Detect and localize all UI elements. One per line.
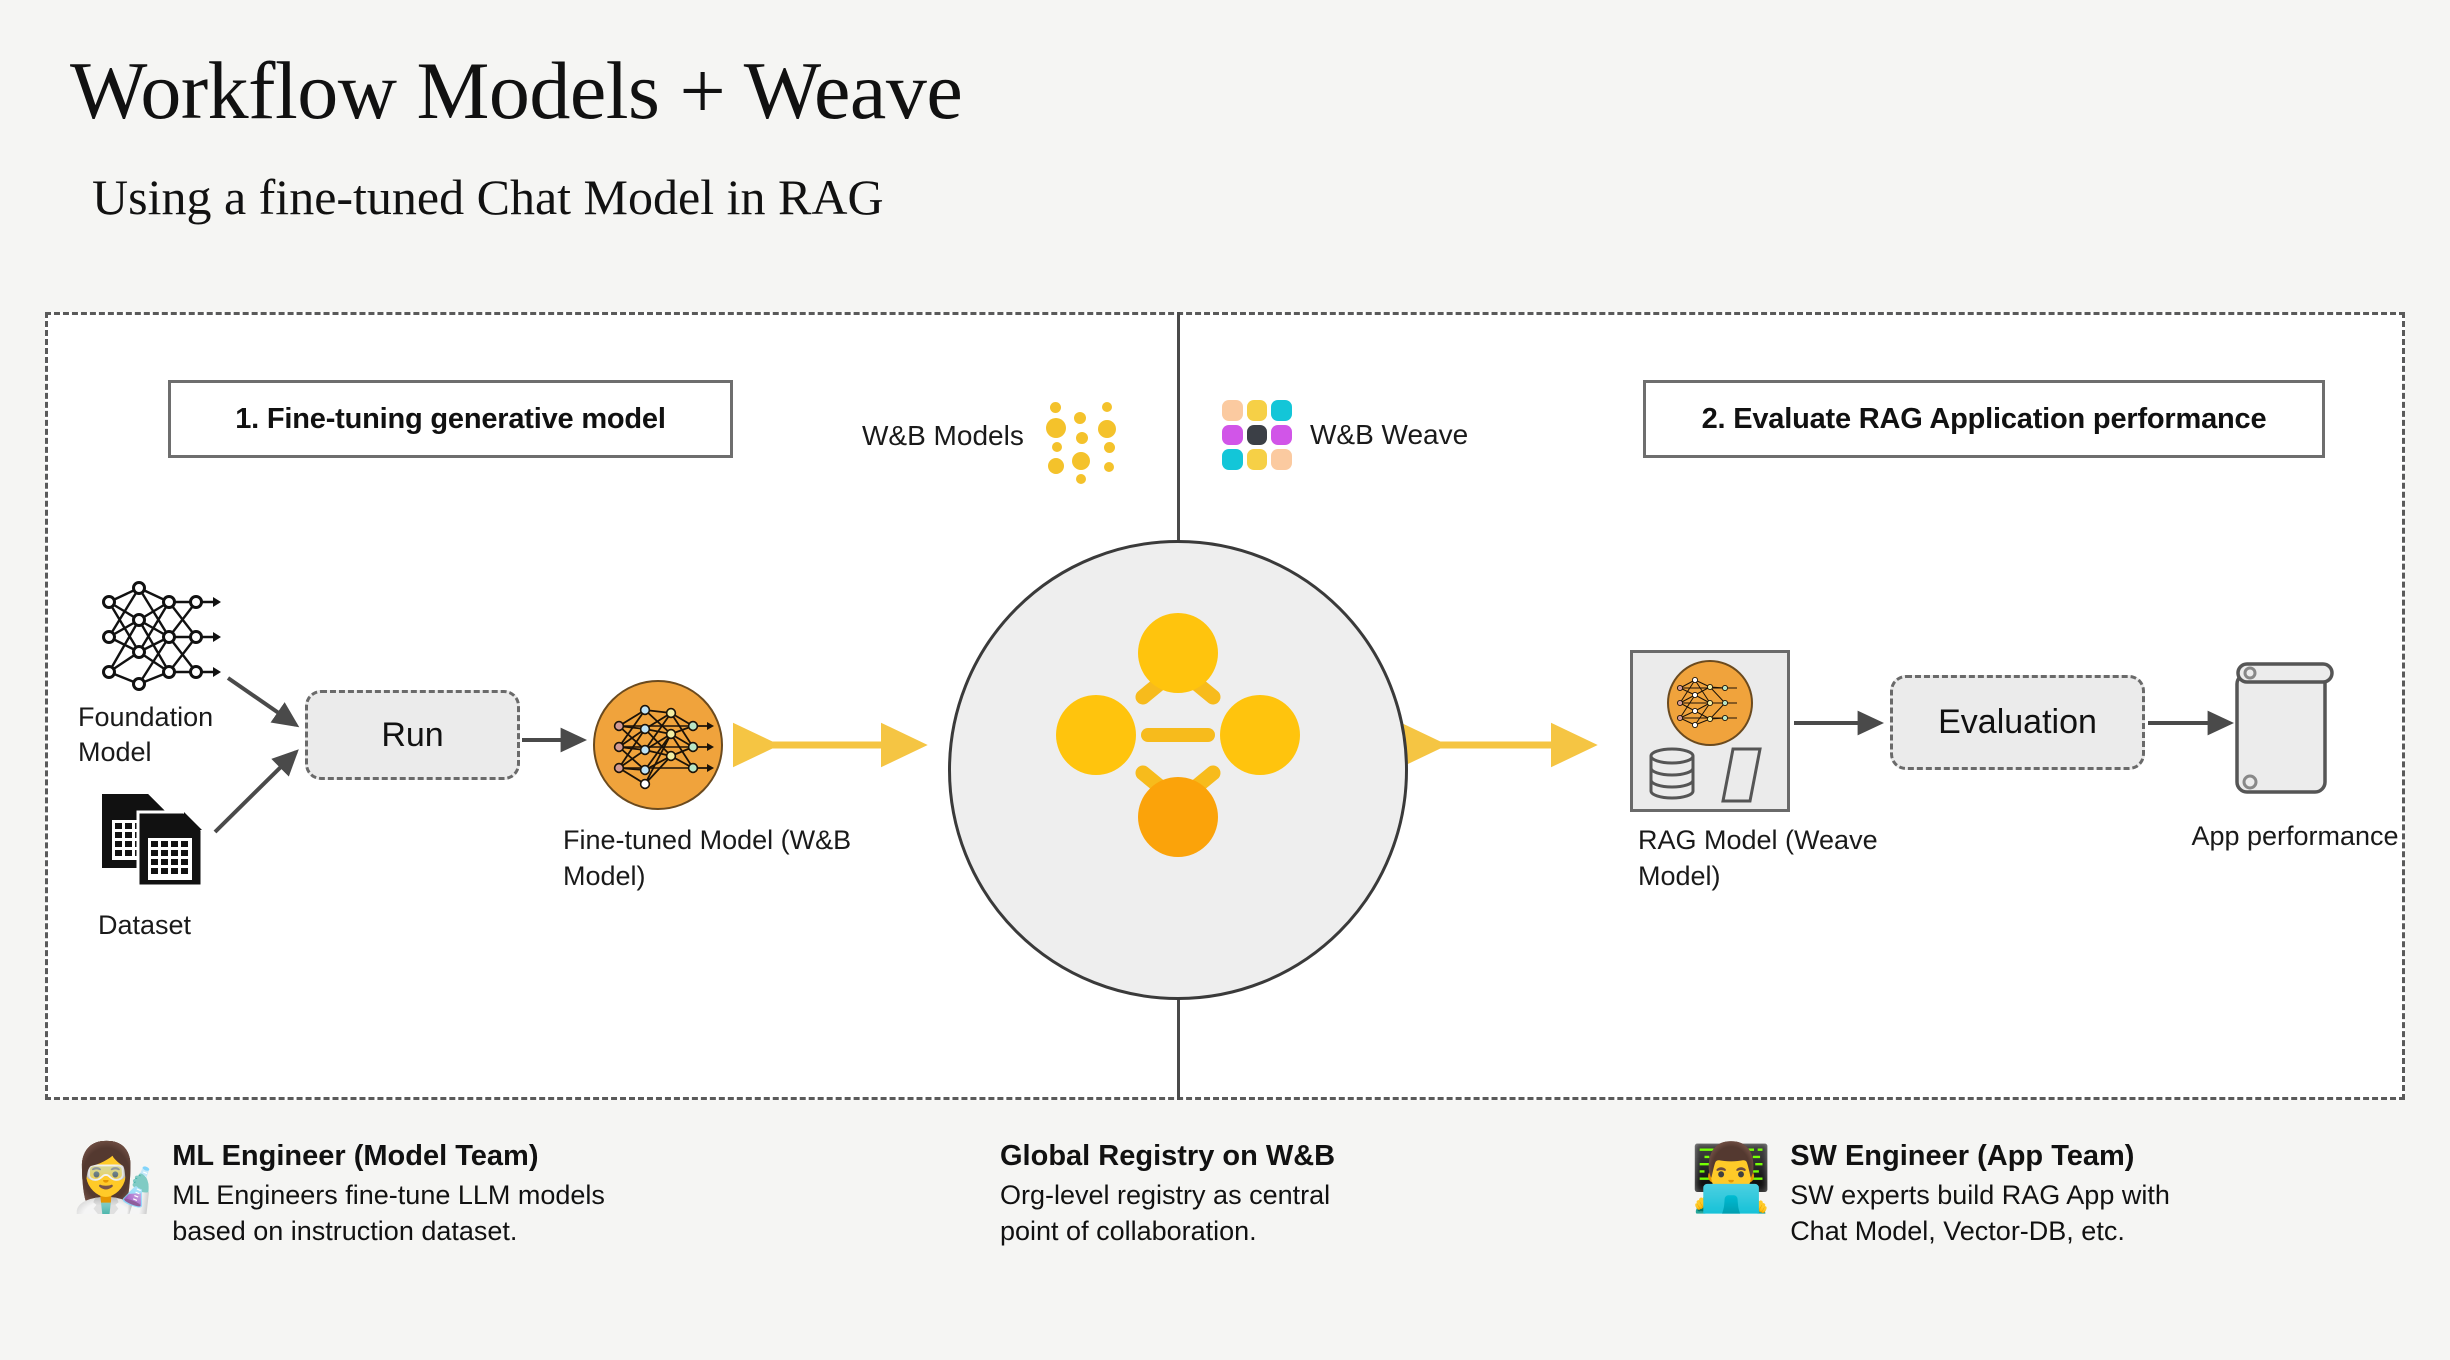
wandb-models-brand: W&B Models <box>862 400 1118 472</box>
phase-1-label: 1. Fine-tuning generative model <box>235 403 665 436</box>
wandb-weave-grid-icon <box>1222 400 1292 470</box>
phase-1-label-box: 1. Fine-tuning generative model <box>168 380 733 458</box>
document-parallelogram-icon <box>1723 749 1760 801</box>
wandb-models-label: W&B Models <box>862 420 1024 452</box>
run-node[interactable]: Run <box>305 690 520 780</box>
legend-item-ml-engineer: 👩‍🔬 ML Engineer (Model Team) ML Engineer… <box>72 1140 605 1250</box>
page-title: Workflow Models + Weave <box>70 50 962 132</box>
scroll-document-icon <box>2235 658 2340 798</box>
legend-description: Org-level registry as central point of c… <box>1000 1178 1335 1250</box>
app-performance-label: App performance <box>2180 818 2410 854</box>
database-cylinder-icon <box>1651 749 1693 798</box>
finetuned-model-label: Fine-tuned Model (W&B Model) <box>563 822 853 895</box>
legend-title: ML Engineer (Model Team) <box>172 1140 605 1173</box>
slide-canvas: Workflow Models + Weave Using a fine-tun… <box>0 0 2450 1360</box>
spreadsheet-files-icon <box>98 790 208 890</box>
phase-2-label-box: 2. Evaluate RAG Application performance <box>1643 380 2325 458</box>
wandb-models-dots-icon <box>1046 400 1118 472</box>
phase-2-label: 2. Evaluate RAG Application performance <box>1702 403 2267 436</box>
evaluation-node-label: Evaluation <box>1938 703 2097 742</box>
orange-neural-network-icon <box>595 682 725 812</box>
legend-description: ML Engineers fine-tune LLM models based … <box>172 1178 605 1250</box>
run-node-label: Run <box>381 716 443 755</box>
finetuned-model-circle <box>593 680 723 810</box>
legend-item-global-registry: Global Registry on W&B Org-level registr… <box>1000 1140 1335 1250</box>
legend-item-sw-engineer: 👨‍💻 SW Engineer (App Team) SW experts bu… <box>1690 1140 2170 1250</box>
neural-network-icon <box>95 580 225 695</box>
wandb-weave-label: W&B Weave <box>1310 419 1468 451</box>
man-technologist-emoji-icon: 👨‍💻 <box>1690 1144 1772 1210</box>
woman-scientist-emoji-icon: 👩‍🔬 <box>72 1144 154 1210</box>
foundation-model-label: Foundation Model <box>78 700 278 770</box>
dataset-label: Dataset <box>98 910 298 941</box>
evaluation-node[interactable]: Evaluation <box>1890 675 2145 770</box>
rag-model-box-icon <box>1630 650 1790 812</box>
legend-title: Global Registry on W&B <box>1000 1140 1335 1173</box>
legend-description: SW experts build RAG App with Chat Model… <box>1790 1178 2170 1250</box>
wandb-weave-brand: W&B Weave <box>1222 400 1468 470</box>
registry-network-nodes-icon <box>1048 605 1308 865</box>
legend-title: SW Engineer (App Team) <box>1790 1140 2170 1173</box>
rag-model-label: RAG Model (Weave Model) <box>1638 822 1938 895</box>
page-subtitle: Using a fine-tuned Chat Model in RAG <box>92 172 884 222</box>
